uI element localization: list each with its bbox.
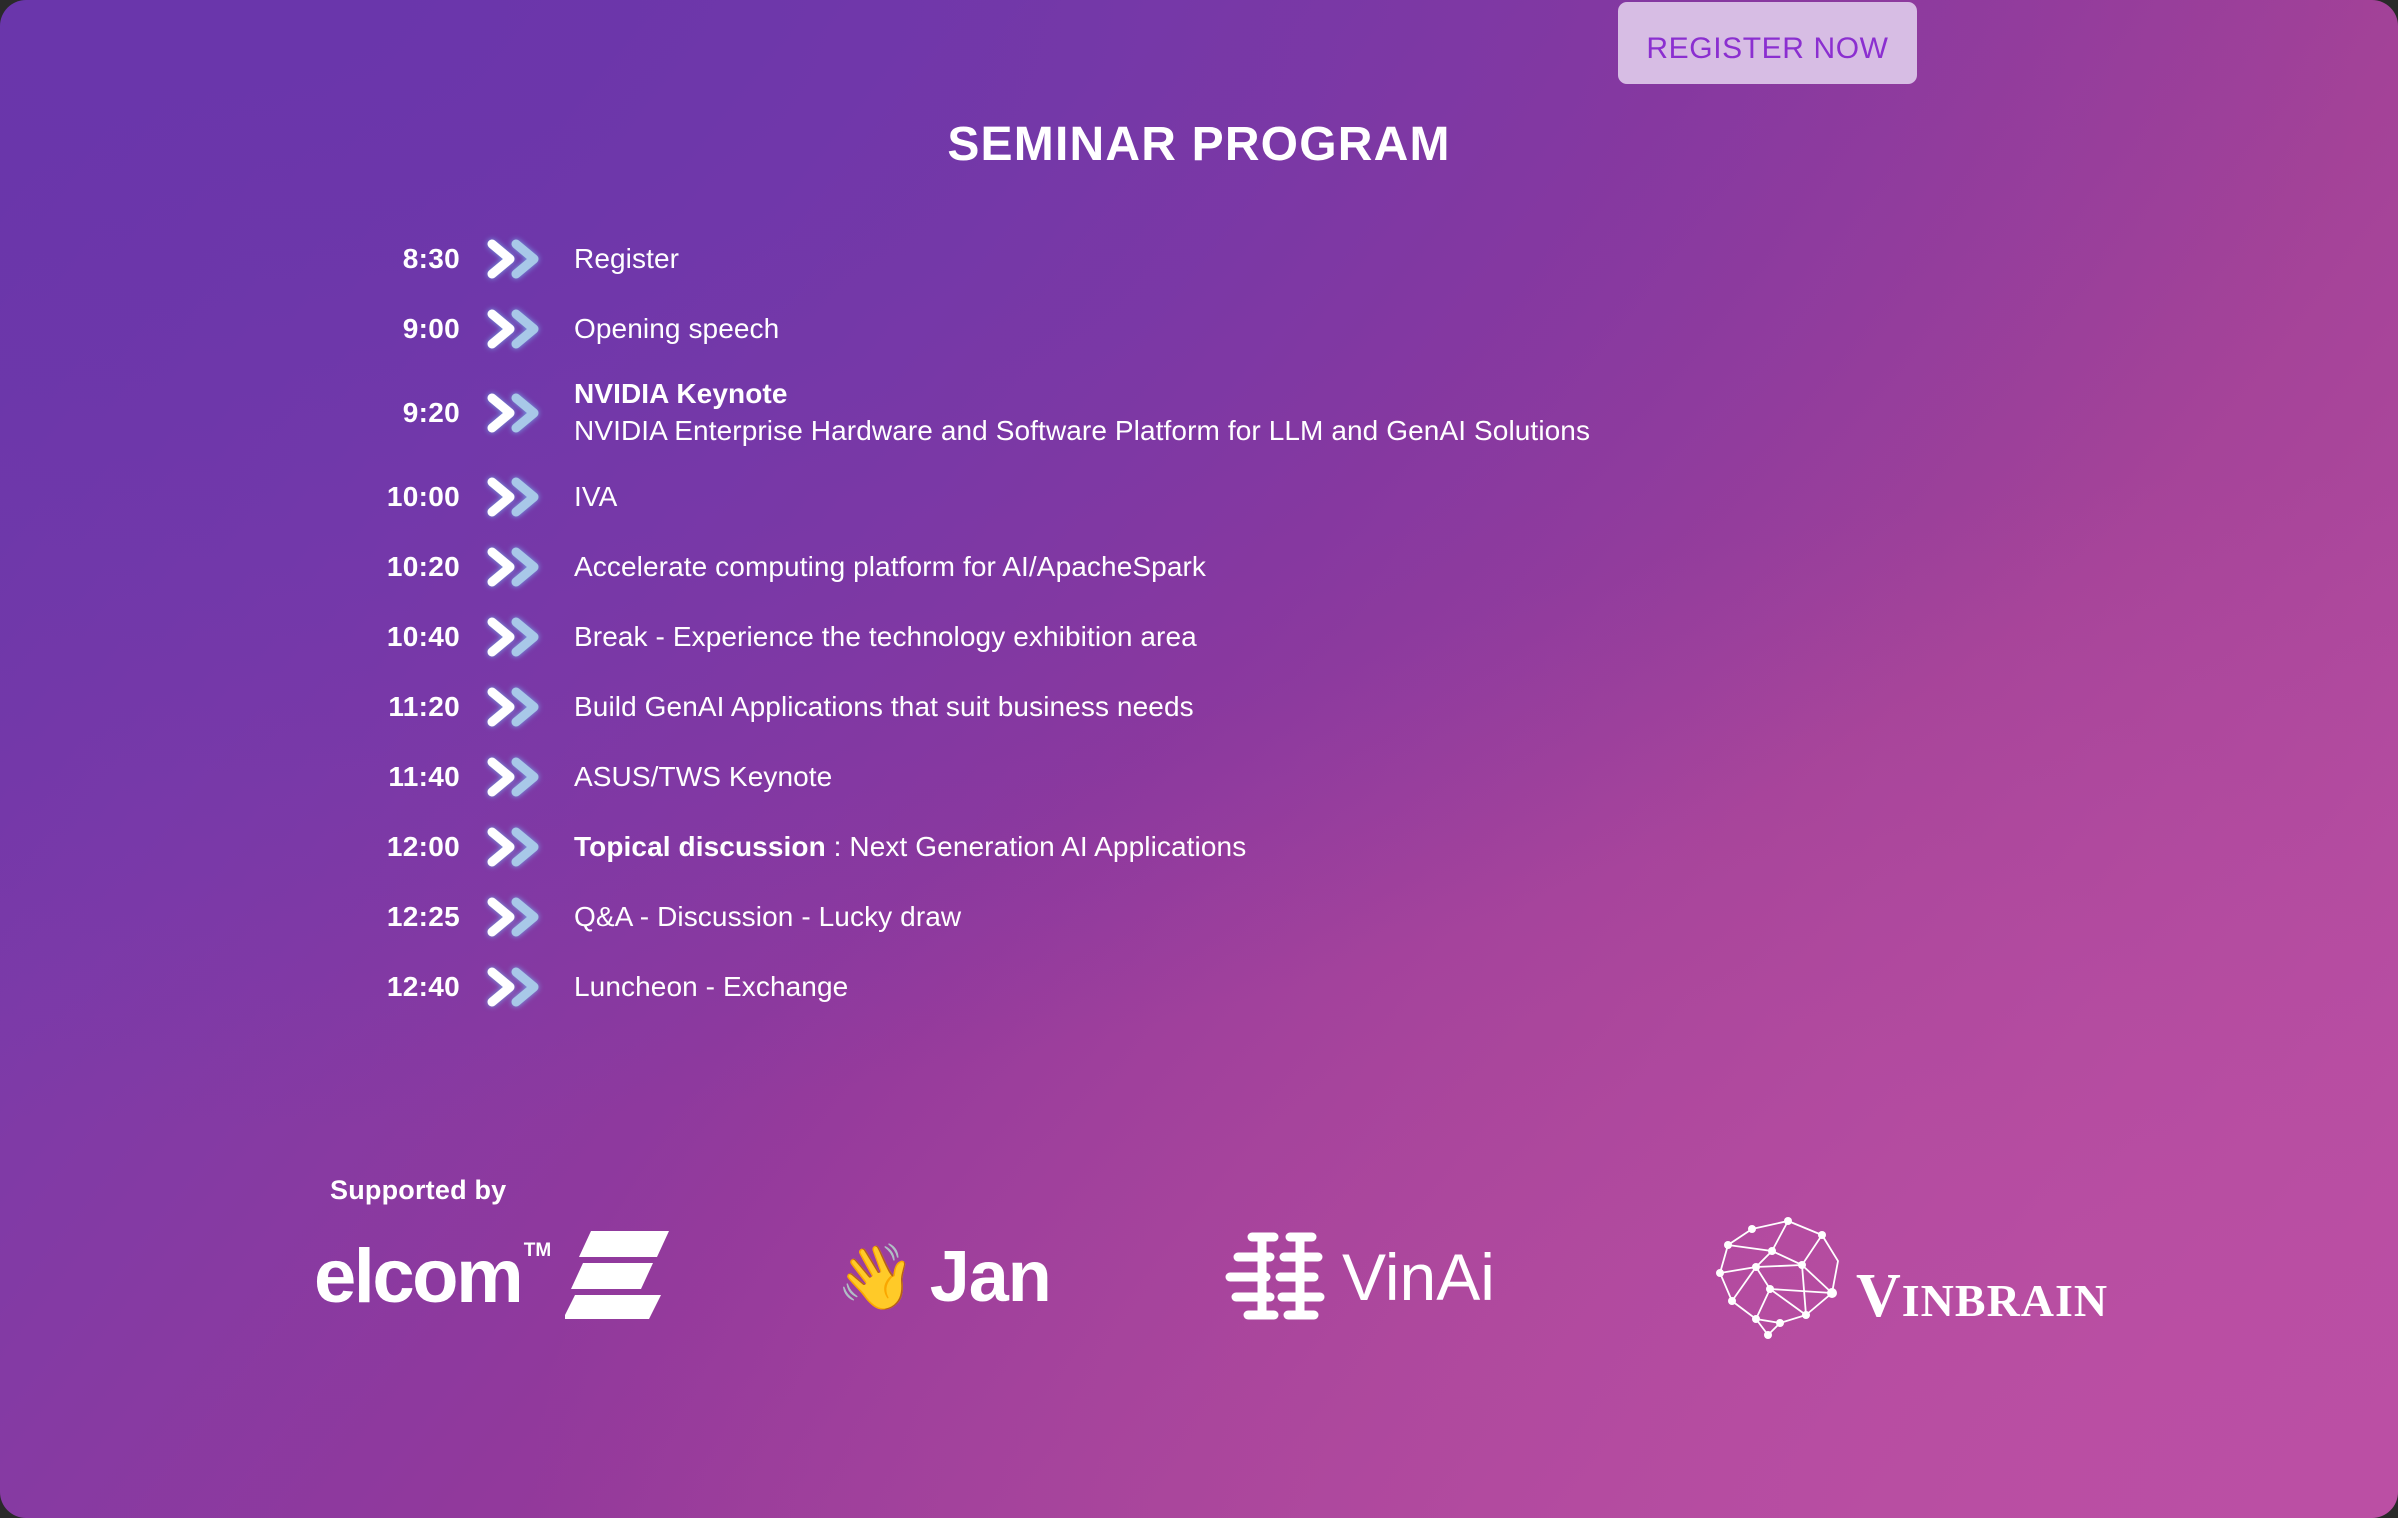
- schedule-row: 10:00 IVA: [330, 462, 2030, 532]
- page-title: SEMINAR PROGRAM: [0, 117, 2398, 172]
- sponsor-logo-jan: 👋 Jan: [700, 1212, 1130, 1342]
- schedule-row: 12:00 Topical discussion : Next Generati…: [330, 812, 2030, 882]
- schedule-row-description: Q&A - Discussion - Lucky draw: [574, 899, 961, 936]
- schedule-row-time: 11:20: [330, 691, 460, 723]
- double-chevron-icon: [478, 967, 554, 1007]
- schedule-row-title: Build GenAI Applications that suit busin…: [574, 691, 1194, 722]
- schedule-row-title: Opening speech: [574, 313, 779, 344]
- vinai-wordmark: VinAi: [1342, 1239, 1495, 1315]
- schedule-row-title-trailing: : Next Generation AI Applications: [826, 831, 1247, 862]
- vinai-circuit-mark-icon: [1222, 1227, 1326, 1328]
- double-chevron-icon: [478, 617, 554, 657]
- schedule-row-description: Topical discussion : Next Generation AI …: [574, 829, 1246, 866]
- schedule-row-title: ASUS/TWS Keynote: [574, 761, 832, 792]
- schedule-row-time: 9:00: [330, 313, 460, 345]
- schedule-row-time: 10:00: [330, 481, 460, 513]
- double-chevron-icon: [478, 547, 554, 587]
- schedule-row: 11:40 ASUS/TWS Keynote: [330, 742, 2030, 812]
- sponsor-logo-elcom: elcomTM: [300, 1212, 700, 1342]
- schedule-row-description: Build GenAI Applications that suit busin…: [574, 689, 1194, 726]
- schedule-row-time: 10:20: [330, 551, 460, 583]
- register-now-button[interactable]: REGISTER NOW: [1618, 2, 1917, 84]
- double-chevron-icon: [478, 477, 554, 517]
- elcom-wordmark: elcomTM: [314, 1239, 521, 1315]
- schedule-row-title: Q&A - Discussion - Lucky draw: [574, 901, 961, 932]
- schedule-row-title: Luncheon - Exchange: [574, 971, 848, 1002]
- schedule-row-time: 10:40: [330, 621, 460, 653]
- sponsor-logo-vinai: VinAi: [1130, 1212, 1580, 1342]
- double-chevron-icon: [478, 393, 554, 433]
- schedule-list: 8:30 Register9:00 Opening speech9:20 NVI…: [330, 224, 2030, 1022]
- double-chevron-icon: [478, 897, 554, 937]
- schedule-row: 9:20 NVIDIA KeynoteNVIDIA Enterprise Har…: [330, 364, 2030, 462]
- trademark-icon: TM: [524, 1241, 551, 1260]
- schedule-row-time: 9:20: [330, 397, 460, 429]
- double-chevron-icon: [478, 687, 554, 727]
- elcom-e-mark-icon: [565, 1229, 669, 1326]
- seminar-program-page: REGISTER NOW SEMINAR PROGRAM 8:30 Regist…: [0, 0, 2398, 1518]
- schedule-row: 9:00 Opening speech: [330, 294, 2030, 364]
- schedule-row: 10:20 Accelerate computing platform for …: [330, 532, 2030, 602]
- double-chevron-icon: [478, 309, 554, 349]
- schedule-row-description: Accelerate computing platform for AI/Apa…: [574, 549, 1206, 586]
- vinbrain-wordmark-cap: V: [1856, 1262, 1902, 1330]
- schedule-row-title: NVIDIA Keynote: [574, 378, 788, 409]
- sponsor-logo-vinbrain: VINBRAIN: [1580, 1212, 2050, 1342]
- schedule-row-time: 11:40: [330, 761, 460, 793]
- schedule-row-title: Break - Experience the technology exhibi…: [574, 621, 1197, 652]
- schedule-row-time: 12:25: [330, 901, 460, 933]
- schedule-row-description: NVIDIA KeynoteNVIDIA Enterprise Hardware…: [574, 376, 1590, 450]
- sponsor-logos: elcomTM 👋 Jan: [300, 1212, 2150, 1342]
- schedule-row-time: 12:40: [330, 971, 460, 1003]
- schedule-row-description: IVA: [574, 479, 617, 516]
- schedule-row-time: 8:30: [330, 243, 460, 275]
- schedule-row-title: Register: [574, 243, 679, 274]
- schedule-row-time: 12:00: [330, 831, 460, 863]
- schedule-row-description: ASUS/TWS Keynote: [574, 759, 832, 796]
- schedule-row: 11:20 Build GenAI Applications that suit…: [330, 672, 2030, 742]
- elcom-wordmark-text: elcom: [314, 1234, 521, 1319]
- schedule-row-description: Break - Experience the technology exhibi…: [574, 619, 1197, 656]
- schedule-row-description: Register: [574, 241, 679, 278]
- vinbrain-network-brain-icon: [1710, 1211, 1860, 1344]
- double-chevron-icon: [478, 757, 554, 797]
- double-chevron-icon: [478, 827, 554, 867]
- schedule-row-title: Topical discussion: [574, 831, 826, 862]
- schedule-row: 12:25 Q&A - Discussion - Lucky draw: [330, 882, 2030, 952]
- schedule-row: 8:30 Register: [330, 224, 2030, 294]
- vinbrain-wordmark: VINBRAIN: [1856, 1261, 2108, 1332]
- schedule-row-title: Accelerate computing platform for AI/Apa…: [574, 551, 1206, 582]
- schedule-row-description: Opening speech: [574, 311, 779, 348]
- schedule-row-title: IVA: [574, 481, 617, 512]
- waving-hand-icon: 👋: [836, 1245, 916, 1309]
- schedule-row-description: Luncheon - Exchange: [574, 969, 848, 1006]
- schedule-row-subtitle: NVIDIA Enterprise Hardware and Software …: [574, 413, 1590, 450]
- vinbrain-wordmark-rest: INBRAIN: [1902, 1275, 2108, 1326]
- jan-wordmark: Jan: [930, 1236, 1051, 1318]
- double-chevron-icon: [478, 239, 554, 279]
- supported-by-label: Supported by: [330, 1175, 506, 1206]
- schedule-row: 10:40 Break - Experience the technology …: [330, 602, 2030, 672]
- schedule-row: 12:40 Luncheon - Exchange: [330, 952, 2030, 1022]
